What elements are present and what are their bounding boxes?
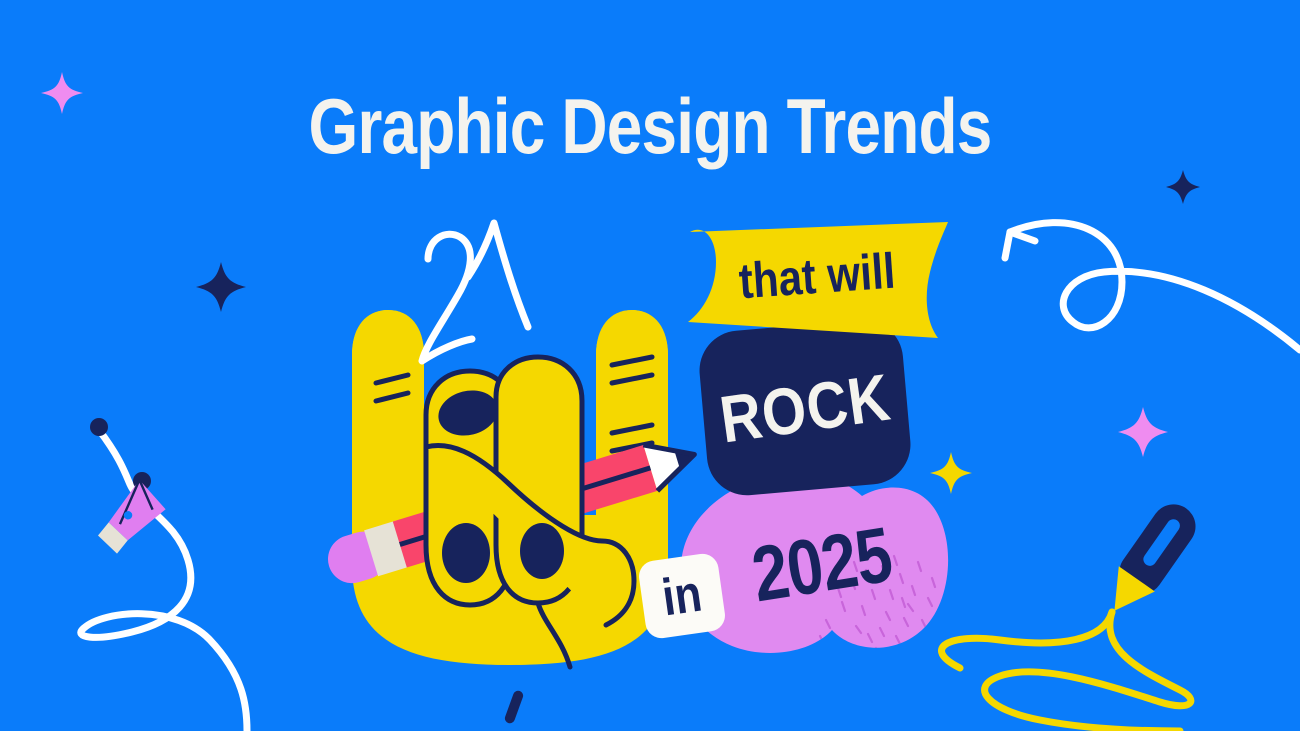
yellow-squiggle-icon bbox=[985, 612, 1191, 731]
in-label: in bbox=[643, 553, 720, 640]
hand-doodle-21 bbox=[422, 223, 528, 361]
yellow-squiggle-tail-icon bbox=[941, 612, 1112, 668]
that-will-label: that will bbox=[703, 206, 931, 345]
sparkle-navy-top-right-icon bbox=[1166, 170, 1200, 204]
in-chip: in bbox=[637, 552, 727, 640]
curly-arrow-white-icon bbox=[1005, 223, 1300, 350]
sparkle-pink-top-left-icon bbox=[41, 72, 83, 114]
sparkle-pink-right-icon bbox=[1118, 407, 1168, 457]
poster-canvas: 2025 ROCK that will in Graphic Design Tr… bbox=[0, 0, 1300, 731]
marker-pen-navy-icon bbox=[1096, 496, 1204, 624]
dash-navy-bottom-icon bbox=[503, 689, 524, 724]
page-title: Graphic Design Trends bbox=[117, 84, 1183, 168]
sparkle-navy-left-icon bbox=[196, 262, 246, 312]
white-swirl-path-icon bbox=[81, 418, 247, 731]
that-will-ribbon: that will bbox=[686, 214, 948, 338]
